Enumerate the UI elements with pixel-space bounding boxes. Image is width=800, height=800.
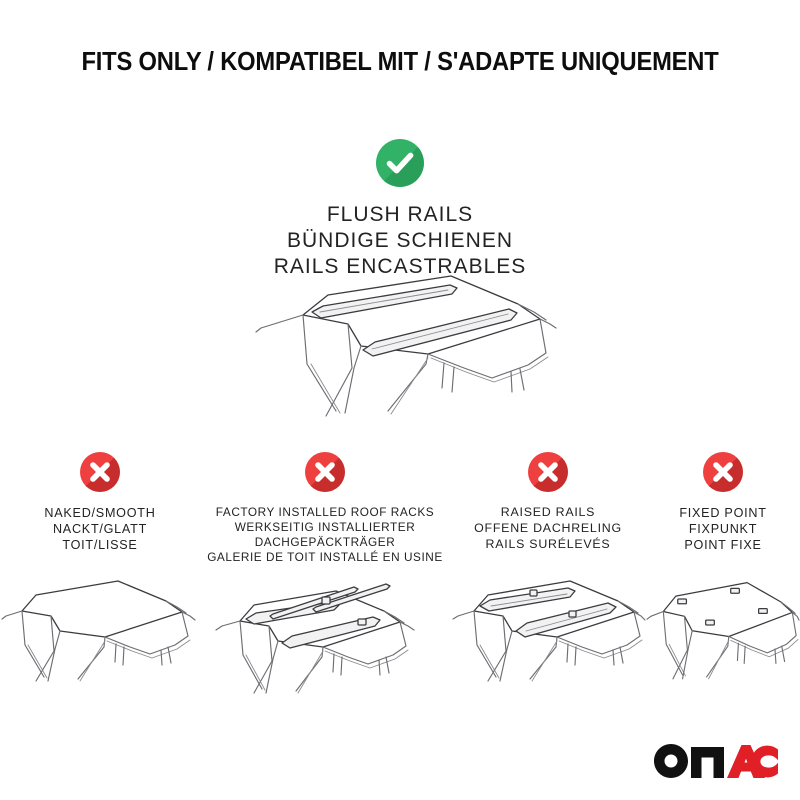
- check-circle-icon: [376, 139, 424, 187]
- car-roof-raised-rails-illustration: [450, 559, 646, 689]
- incompatible-item-raised-rails: RAISED RAILS OFFENE DACHRELING RAILS SUR…: [450, 452, 646, 689]
- header: FITS ONLY / KOMPATIBEL MIT / S'ADAPTE UN…: [0, 50, 800, 76]
- logo-text: OMAC: [654, 778, 655, 779]
- incompatible-label: NAKED/SMOOTH NACKT/GLATT TOIT/LISSE: [0, 505, 200, 553]
- compatible-section: FLUSH RAILS BÜNDIGE SCHIENEN RAILS ENCAS…: [0, 139, 800, 280]
- omac-logo: OMAC: [654, 744, 778, 778]
- car-roof-fixed-point-illustration: [646, 559, 800, 689]
- badge-wrap: [450, 452, 646, 498]
- car-roof-flush-rails-illustration: [228, 268, 598, 433]
- incompatible-item-factory-rack: FACTORY INSTALLED ROOF RACKS WERKSEITIG …: [200, 452, 450, 701]
- page-title: FITS ONLY / KOMPATIBEL MIT / S'ADAPTE UN…: [28, 50, 772, 76]
- car-roof-factory-rack-illustration: [200, 571, 450, 701]
- incompatible-label: RAISED RAILS OFFENE DACHRELING RAILS SUR…: [450, 505, 646, 553]
- badge-wrap: [200, 452, 450, 498]
- incompatible-label: FACTORY INSTALLED ROOF RACKS WERKSEITIG …: [200, 505, 450, 565]
- badge-wrap: [0, 452, 200, 498]
- x-circle-icon: [703, 452, 743, 492]
- x-circle-icon: [305, 452, 345, 492]
- incompatible-item-naked: NAKED/SMOOTH NACKT/GLATT TOIT/LISSE: [0, 452, 200, 689]
- x-circle-icon: [80, 452, 120, 492]
- incompatible-label: FIXED POINT FIXPUNKT POINT FIXE: [646, 505, 800, 553]
- incompatible-row: NAKED/SMOOTH NACKT/GLATT TOIT/LISSE: [0, 452, 800, 701]
- car-roof-naked-illustration: [0, 559, 200, 689]
- incompatible-item-fixed-point: FIXED POINT FIXPUNKT POINT FIXE: [646, 452, 800, 689]
- x-circle-icon: [528, 452, 568, 492]
- badge-wrap: [646, 452, 800, 498]
